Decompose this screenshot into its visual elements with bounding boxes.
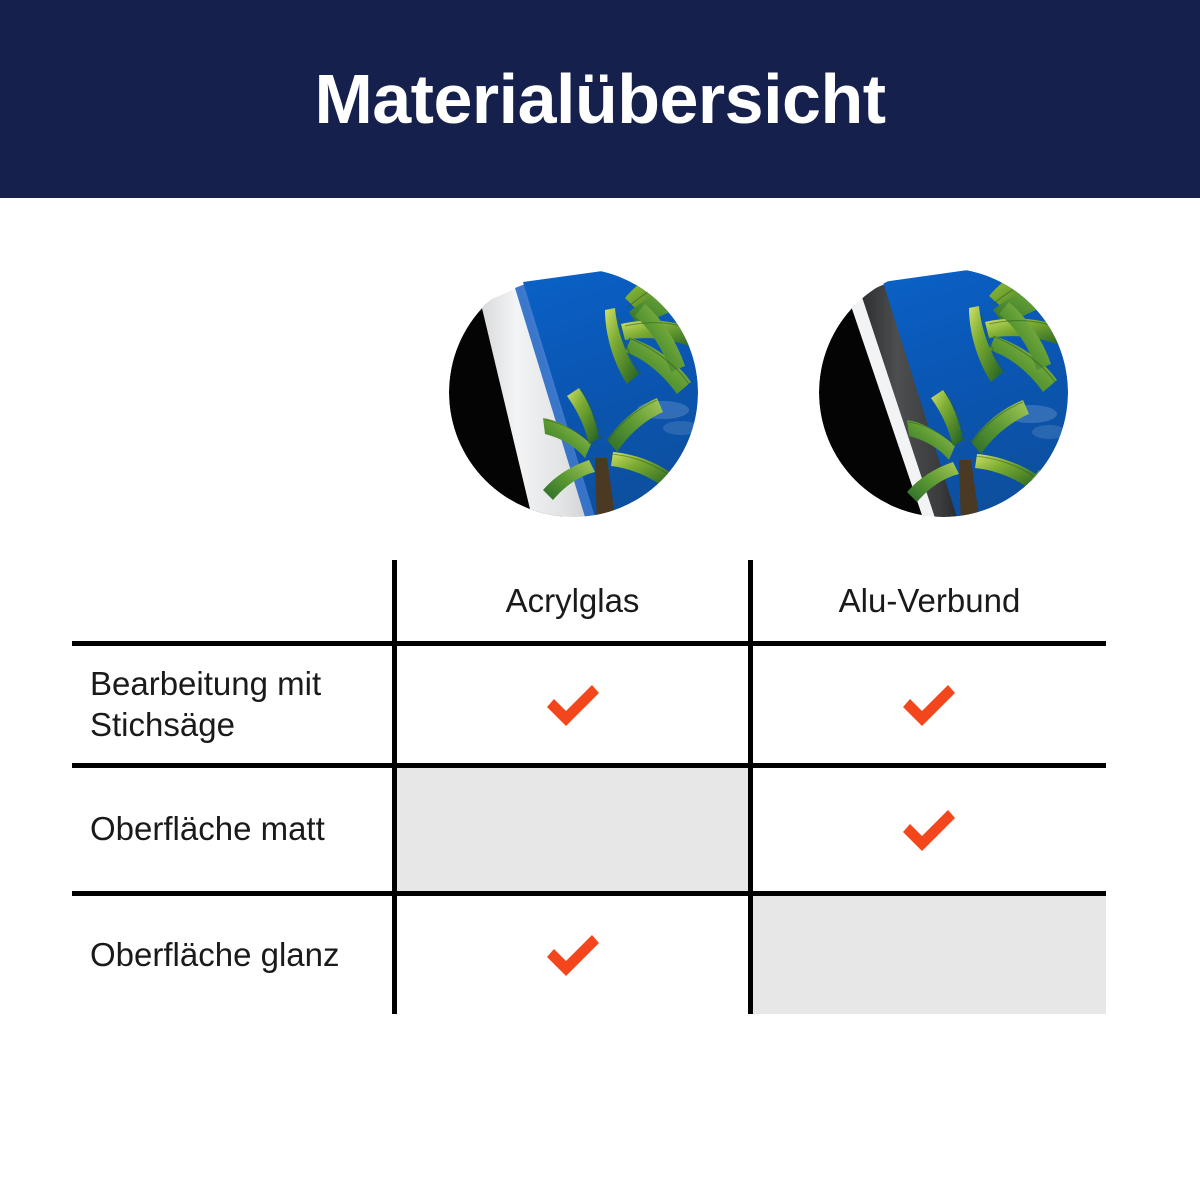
table-row-label-bearbeitung-mit-stichsaege: Bearbeitung mit Stichsäge — [90, 646, 390, 763]
material-comparison-table: Acrylglas Alu-Verbund Bearbeitung mit St… — [72, 556, 1106, 1014]
table-row-label-oberflaeche-glanz: Oberfläche glanz — [90, 896, 390, 1014]
acrylglas-sample-image — [449, 268, 698, 517]
check-icon-alu-verbund-oberflaeche-matt — [898, 799, 960, 861]
page-header: Materialübersicht — [0, 0, 1200, 198]
table-row-label-oberflaeche-matt: Oberfläche matt — [90, 768, 390, 891]
table-column-header-acrylglas: Acrylglas — [397, 570, 748, 632]
product-thumbnail-acrylglas — [449, 268, 698, 517]
table-cell-alu-verbund-oberflaeche-glanz-unavailable — [753, 896, 1106, 1014]
product-thumbnail-alu-verbund — [819, 268, 1068, 517]
check-icon-acrylglas-oberflaeche-glanz — [542, 924, 604, 986]
page-title: Materialübersicht — [314, 64, 885, 134]
alu-verbund-sample-image — [819, 268, 1068, 517]
check-icon-acrylglas-bearbeitung-mit-stichsaege — [542, 674, 604, 736]
table-cell-acrylglas-oberflaeche-matt-unavailable — [397, 768, 748, 891]
material-overview-page: Materialübersicht — [0, 0, 1200, 1200]
table-column-header-alu-verbund: Alu-Verbund — [753, 570, 1106, 632]
check-icon-alu-verbund-bearbeitung-mit-stichsaege — [898, 674, 960, 736]
